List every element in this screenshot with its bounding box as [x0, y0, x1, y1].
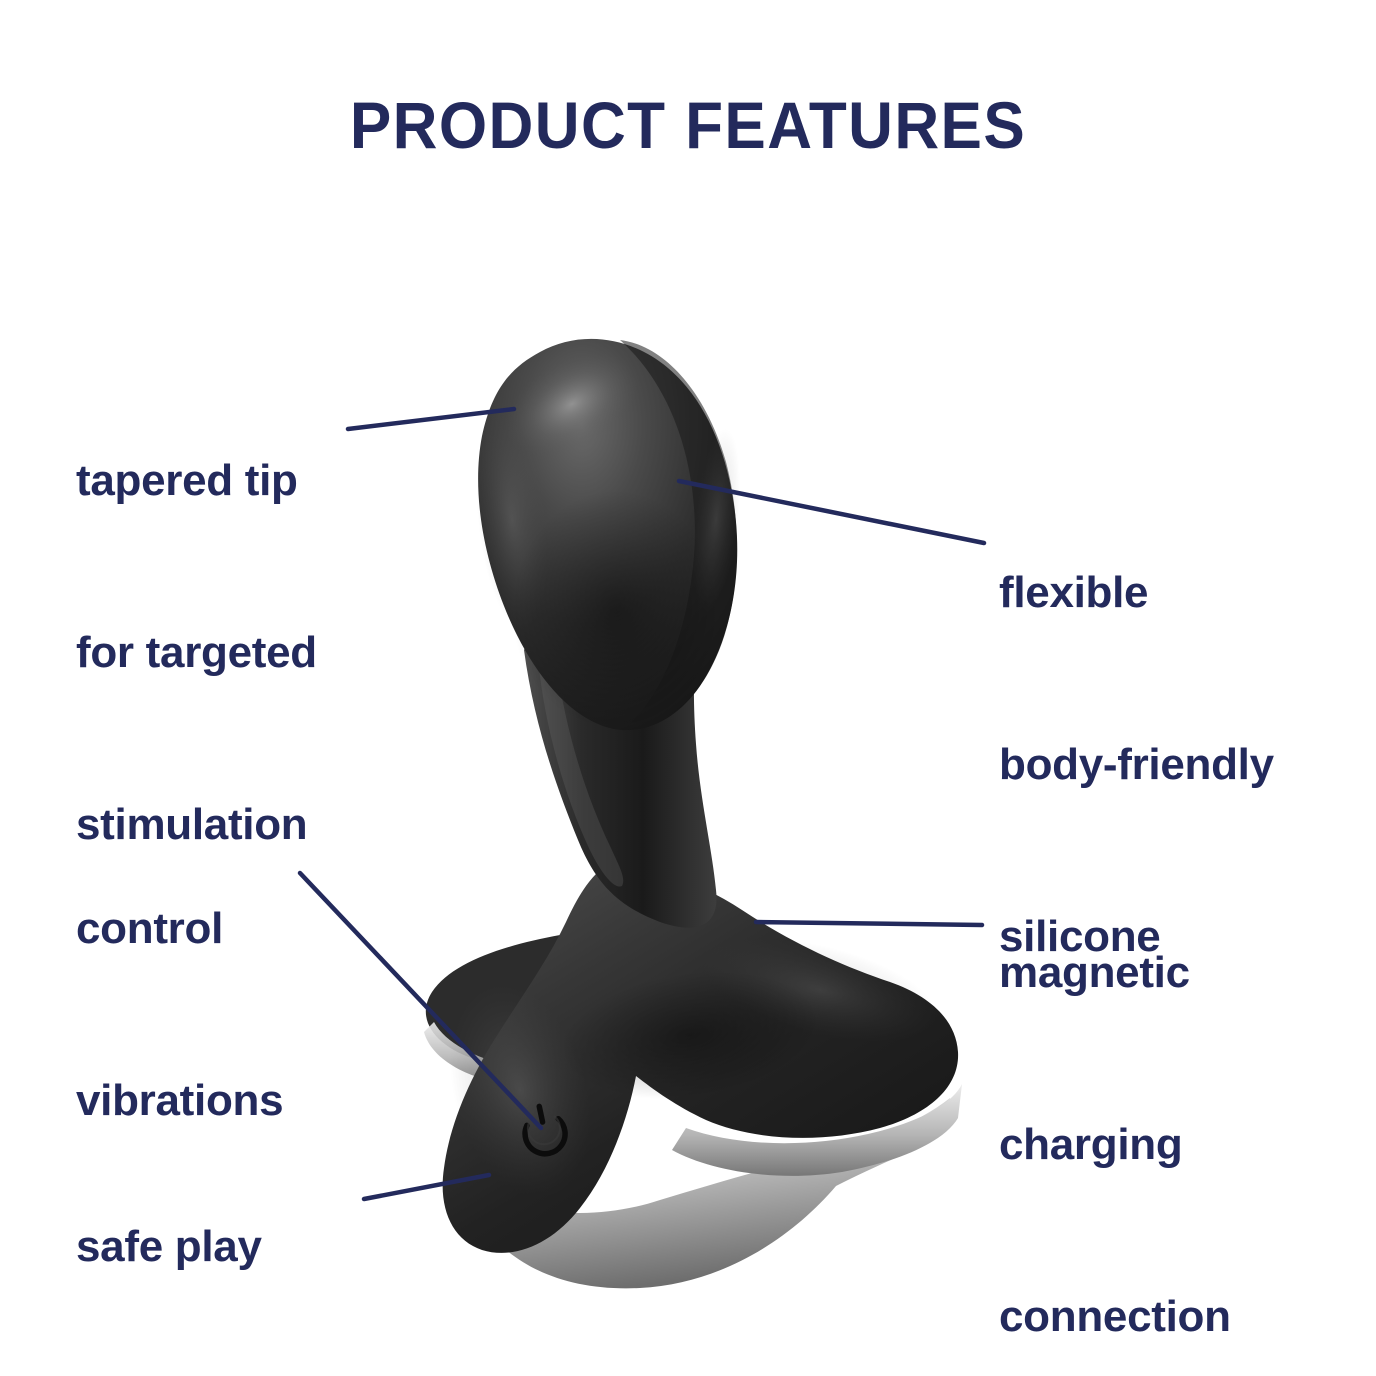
callout-magnetic-charging-line-2: charging	[999, 1116, 1231, 1173]
leader-magnetic-charging	[756, 922, 982, 925]
callout-magnetic-charging: magnetic charging connection	[999, 830, 1231, 1376]
callout-tapered-tip-line-2: for targeted	[76, 624, 317, 681]
callout-flexible-silicone-line-2: body-friendly	[999, 736, 1274, 793]
product-features-infographic: PRODUCT FEATURES	[0, 0, 1376, 1376]
callout-control-vibrations-line-1: control	[76, 900, 283, 957]
product-body-group	[424, 330, 962, 1288]
callout-magnetic-charging-line-1: magnetic	[999, 944, 1231, 1001]
callout-safe-play-line-1: safe play	[76, 1218, 346, 1275]
callout-flexible-silicone-line-1: flexible	[999, 564, 1274, 621]
bulb-core-shadow	[512, 490, 720, 730]
callout-safe-play: safe play thanks to the wide base	[76, 1104, 346, 1376]
callout-magnetic-charging-line-3: connection	[999, 1288, 1231, 1345]
callout-tapered-tip-line-1: tapered tip	[76, 452, 317, 509]
